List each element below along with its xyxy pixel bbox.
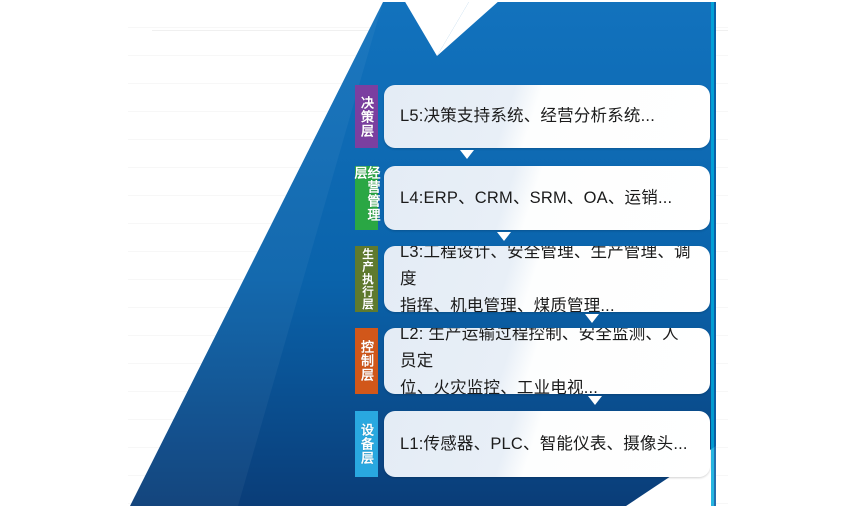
divider-marker-l5 [460, 150, 474, 159]
level-card-l5[interactable]: L5:决策支持系统、经营分析系统... [384, 85, 710, 148]
level-text-l2: L2: 生产运输过程控制、安全监测、人员定 位、火灾监控、工业电视... [400, 328, 694, 394]
level-row-l2[interactable]: 控制层 L2: 生产运输过程控制、安全监测、人员定 位、火灾监控、工业电视... [352, 328, 716, 394]
level-tab-l3: 生产执行层 [355, 246, 378, 312]
level-card-l2[interactable]: L2: 生产运输过程控制、安全监测、人员定 位、火灾监控、工业电视... [384, 328, 710, 394]
divider-marker-l4 [497, 232, 511, 241]
level-card-l1[interactable]: L1:传感器、PLC、智能仪表、摄像头... [384, 411, 710, 477]
level-text-l4: L4:ERP、CRM、SRM、OA、运销... [400, 185, 672, 212]
level-text-l5: L5:决策支持系统、经营分析系统... [400, 103, 655, 130]
level-row-l1[interactable]: 设备层 L1:传感器、PLC、智能仪表、摄像头... [352, 411, 716, 477]
level-text-l1: L1:传感器、PLC、智能仪表、摄像头... [400, 431, 688, 458]
level-card-l4[interactable]: L4:ERP、CRM、SRM、OA、运销... [384, 166, 710, 230]
level-tab-l2: 控制层 [355, 328, 378, 394]
level-text-l3: L3:工程设计、安全管理、生产管理、调度 指挥、机电管理、煤质管理... [400, 246, 694, 312]
divider-marker-l3 [585, 314, 599, 323]
level-tab-l1: 设备层 [355, 411, 378, 477]
divider-marker-l2 [588, 396, 602, 405]
diagram-canvas: 决策层 L5:决策支持系统、经营分析系统... 经营管理层 L4:ERP、CRM… [0, 0, 856, 514]
level-tab-l5: 决策层 [355, 85, 378, 148]
level-row-l5[interactable]: 决策层 L5:决策支持系统、经营分析系统... [352, 85, 716, 148]
level-tab-l4: 经营管理层 [355, 166, 378, 230]
level-row-l3[interactable]: 生产执行层 L3:工程设计、安全管理、生产管理、调度 指挥、机电管理、煤质管理.… [352, 246, 716, 312]
level-row-l4[interactable]: 经营管理层 L4:ERP、CRM、SRM、OA、运销... [352, 166, 716, 230]
level-card-l3[interactable]: L3:工程设计、安全管理、生产管理、调度 指挥、机电管理、煤质管理... [384, 246, 710, 312]
